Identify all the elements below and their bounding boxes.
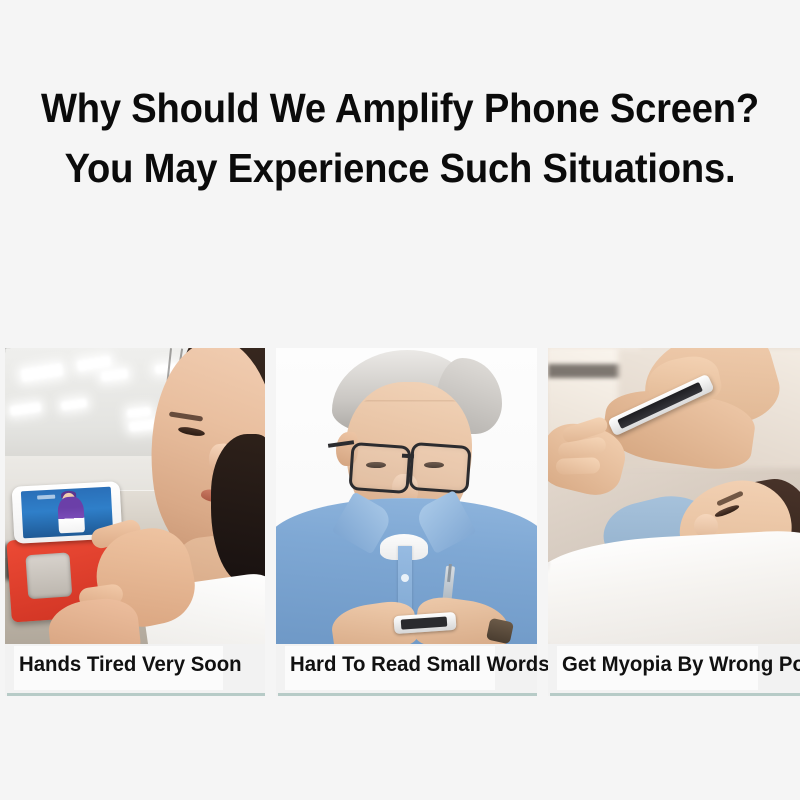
panel-underline	[550, 693, 800, 696]
photo-woman-in-bed	[548, 348, 800, 644]
caption-strip: Get Myopia By Wrong Pose	[548, 644, 800, 696]
panel-get-myopia: Get Myopia By Wrong Pose	[548, 348, 800, 696]
panel-caption-hard-to-read: Hard To Read Small Words	[290, 650, 550, 680]
page-title: Why Should We Amplify Phone Screen? You …	[0, 78, 800, 198]
panel-caption-get-myopia: Get Myopia By Wrong Pose	[562, 650, 800, 680]
photo-office-phone-holder	[5, 348, 265, 644]
panel-underline	[278, 693, 538, 696]
panel-hands-tired: Hands Tired Very Soon	[5, 348, 265, 696]
promo-page: Why Should We Amplify Phone Screen? You …	[0, 0, 800, 800]
caption-strip: Hands Tired Very Soon	[5, 644, 265, 696]
caption-strip: Hard To Read Small Words	[276, 644, 538, 696]
panel-underline	[7, 693, 265, 696]
headline-line-1: Why Should We Amplify Phone Screen?	[28, 78, 772, 138]
benefit-panel-row: Hands Tired Very Soon	[5, 348, 800, 696]
panel-hard-to-read: Hard To Read Small Words	[276, 348, 538, 696]
headline-line-2: You May Experience Such Situations.	[28, 138, 772, 198]
photo-elderly-man-reading	[276, 348, 538, 644]
panel-caption-hands-tired: Hands Tired Very Soon	[19, 650, 242, 680]
